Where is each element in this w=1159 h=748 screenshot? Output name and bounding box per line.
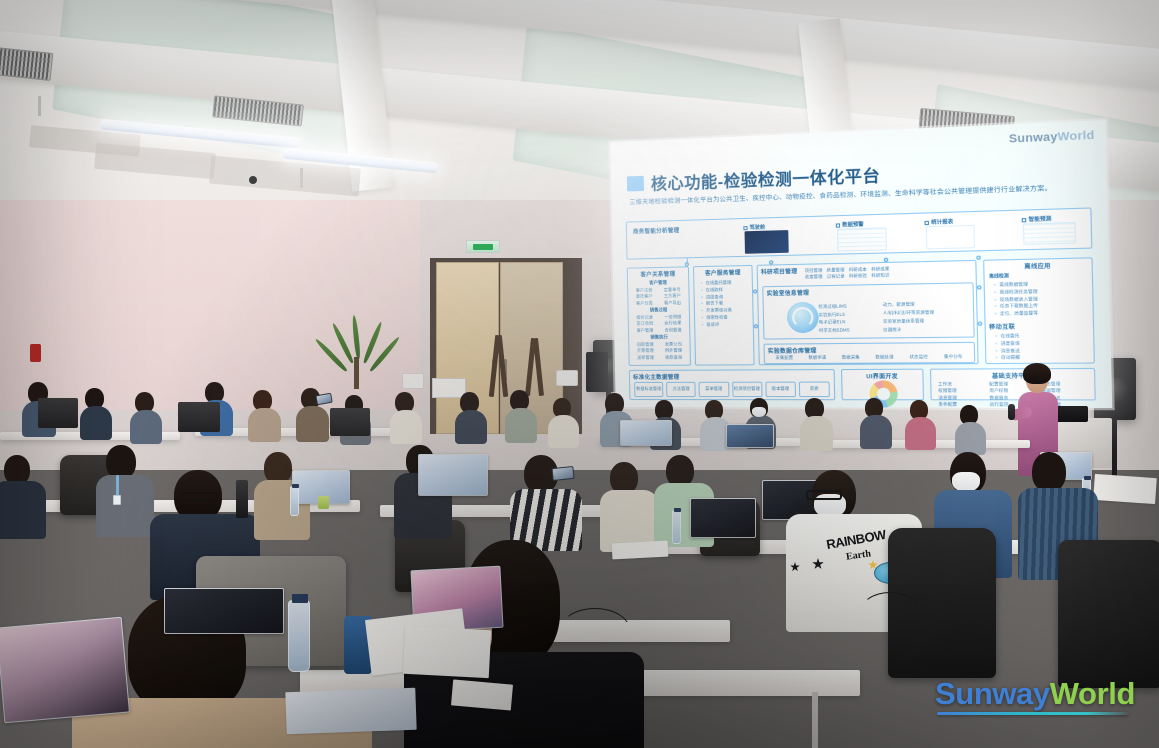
ceiling-hanger: [38, 96, 41, 116]
master-data-box: 标准化主数据管理 数据标准管理 方法管理 菜单管理 检测项目管理 版本管理 资质: [629, 369, 835, 400]
laptop-screen: [0, 618, 129, 722]
torso: [905, 417, 936, 450]
checkbox-icon: [836, 223, 840, 227]
potted-plant: [336, 315, 380, 389]
crm-item: 客户分类: [631, 300, 657, 307]
master-data-item: 版本管理: [765, 382, 796, 397]
watermark-part1: Sunway: [935, 676, 1050, 711]
master-data-header: 标准化主数据管理: [630, 370, 834, 382]
torso: [80, 406, 112, 440]
connector-node: [754, 324, 758, 328]
laptop: [690, 498, 756, 538]
master-data-item: 数据标准管理: [634, 382, 663, 397]
project-matrix-item: 科研检验: [849, 273, 867, 280]
dw-item: 数据处理: [869, 354, 901, 361]
torso: [0, 481, 46, 539]
document-thumbnail: [837, 227, 887, 251]
wall-monitor: [586, 352, 608, 392]
air-vent: [0, 47, 53, 81]
torso: [955, 422, 986, 455]
bottle-cap: [674, 508, 681, 512]
slide-brand-part1: Sunway: [1009, 131, 1058, 146]
bottle-cap: [292, 594, 308, 603]
platform-item: 权限管理: [938, 388, 983, 395]
service-items: 在线委托管理 在线取样 进度查询 报告下载 开发票核对表 保密性检查 投诉评: [694, 277, 753, 328]
lims-circle-graphic: [787, 302, 819, 333]
lab-resource-list: 动力、能源管理 人/机/料/法/环等资源管理 实验室质量体系管理 仪器统计: [883, 300, 935, 334]
water-bottle: [672, 510, 681, 544]
project-matrix-item: 过程记录: [827, 274, 845, 281]
smartphone: [551, 466, 574, 481]
mobile-item: 自动提醒: [995, 354, 1093, 362]
dashboard-thumbnail: [745, 230, 789, 254]
monitor: [178, 402, 220, 432]
lab-info-header: 实验室信息管理: [763, 283, 972, 298]
torso: [860, 415, 892, 449]
customer-service-box: 客户服务管理 在线委托管理 在线取样 进度查询 报告下载 开发票核对表 保密性检…: [693, 265, 755, 366]
head: [1032, 452, 1066, 492]
paper-document: [403, 626, 491, 678]
torso: [800, 416, 833, 451]
mobile-items: 在线委托 进度查询 消息推送 自动提醒: [986, 331, 1094, 362]
project-header: 科研项目管理: [758, 265, 801, 277]
drink-cup: [318, 496, 329, 509]
ui-development-box: UI界面开发: [841, 369, 924, 401]
torso: [130, 410, 162, 444]
eyeglasses: [806, 490, 842, 500]
laptop-screen: [419, 455, 487, 495]
laptop: [164, 588, 284, 634]
head: [106, 445, 136, 479]
torso: [548, 415, 579, 448]
project-matrix: 项目管理 质量管理 科研成本 科研成果 进度管理 过程记录 科研检验 科研知识: [805, 263, 890, 281]
master-data-item: 资质: [799, 382, 830, 398]
offline-application-box: 离线应用 离线检测 离线数据管理 离线检测任务管理 现场数据录入管理 任务下载数…: [983, 257, 1095, 364]
laptop-screen: [727, 425, 773, 447]
monitor: [330, 408, 370, 436]
platform-item: 条件配置: [938, 401, 983, 408]
chart-thumbnail: [926, 225, 975, 250]
master-data-boxes: 数据标准管理 方法管理 菜单管理 检测项目管理 版本管理 资质: [630, 382, 834, 398]
paper-document: [612, 541, 669, 560]
paper-document: [451, 679, 513, 710]
offline-item: 定位、质量监督等: [994, 310, 1092, 319]
master-data-item: 菜单管理: [699, 382, 729, 397]
conference-room-photo: SunwayWorld 核心功能-检验检测一体化平台 三维天地检验检测一体化平台…: [0, 0, 1159, 748]
data-warehouse-items: 采集配置 数据申请 数据采集 数据处理 状态监控 集中分布: [765, 354, 974, 362]
platform-column: 工作流 权限管理 消息管理 条件配置: [938, 381, 983, 408]
office-chair: [1058, 540, 1159, 688]
fire-alarm-icon: [30, 344, 41, 362]
core-systems-list: 检测过程LIMS 实验执行ELS 电子记录ELN 科学文档SDMS: [818, 302, 850, 334]
slide-brand-logo: SunwayWorld: [1009, 129, 1095, 146]
crm-box: 客户关系管理 客户管理 客户注册 定量单号 委托客户 三方客户 客户分类 客户导…: [627, 266, 691, 366]
master-data-item: 方法管理: [666, 382, 696, 397]
bi-analysis-label: 商务智能分析管理: [630, 224, 683, 237]
crm-item: 合同管理: [660, 327, 686, 334]
exit-sign-glyph: [473, 244, 493, 250]
project-matrix-item: 进度管理: [805, 274, 823, 281]
laptop: [726, 424, 774, 448]
paper-document: [1093, 474, 1157, 504]
laptop: [620, 420, 672, 446]
bottle-cap: [292, 484, 299, 488]
connector-node: [753, 289, 757, 293]
torso: [296, 406, 329, 442]
dw-item: 状态监控: [903, 354, 935, 361]
laptop-screen: [621, 421, 671, 445]
torso: [455, 410, 487, 444]
water-bottle: [288, 600, 310, 672]
thermos-tumbler: [236, 480, 248, 518]
speaker-stand: [1112, 420, 1117, 480]
dw-item: 采集配置: [769, 355, 800, 362]
face-mask: [952, 472, 980, 492]
master-data-item: 检测项目管理: [732, 382, 763, 397]
cable: [560, 608, 630, 630]
dw-item: 数据申请: [802, 355, 833, 362]
crm-group-items: 回款管理 发票公司 开票管理 例外管理 送样管理 收款查询: [629, 341, 690, 361]
desk-leg: [812, 692, 818, 748]
face-mask: [752, 407, 766, 417]
brochure: [285, 688, 416, 735]
core-system-item: 科学文档SDMS: [819, 326, 850, 334]
crm-item: 送样管理: [633, 354, 659, 361]
bi-analysis-box: 商务智能分析管理 驾驶舱 数据预警 统计报表: [626, 207, 1093, 259]
eyeglasses: [180, 492, 218, 501]
handheld-microphone: [1008, 404, 1015, 420]
crm-group-items: 客户注册 定量单号 委托客户 三方客户 客户分类 客户导出: [628, 287, 689, 307]
torso: [248, 408, 281, 442]
presenter-hair: [1023, 363, 1051, 384]
data-warehouse-box: 实验数据仓库管理 采集配置 数据申请 数据采集 数据处理 状态监控 集中分布: [763, 342, 975, 364]
connector-node: [976, 256, 981, 260]
laptop-screen: [691, 499, 755, 537]
sprinkler-head: [249, 176, 257, 184]
torso: [390, 410, 422, 444]
plant-leaf: [351, 315, 361, 359]
core-system-item: 检测过程LIMS: [818, 302, 849, 310]
torso: [96, 475, 154, 537]
research-project-box: 科研项目管理 项目管理 质量管理 科研成本 科研成果 进度管理 过程记录 科研检…: [757, 260, 979, 365]
offline-items: 离线数据管理 离线检测任务管理 现场数据录入管理 任务下载数据上传 定位、质量监…: [985, 279, 1093, 318]
checkbox-icon: [924, 220, 928, 224]
wall-outlet: [556, 370, 578, 386]
report-thumbnail: [1023, 222, 1076, 245]
crm-item: 客户导出: [659, 299, 685, 306]
monitor: [38, 398, 78, 428]
connector-node: [978, 322, 983, 326]
title-accent-tab: [627, 175, 644, 191]
checkbox-icon: [743, 226, 747, 230]
laptop: [418, 454, 488, 496]
lanyard: [116, 475, 119, 497]
core-system-item: 电子记录ELN: [819, 318, 850, 326]
bottle-cap: [1084, 476, 1091, 480]
badge: [113, 495, 121, 505]
lab-resource-item: 人/机/料/法/环等资源管理: [883, 308, 934, 317]
torso: [505, 408, 537, 443]
ceiling-hanger: [300, 168, 303, 188]
plant-stem: [354, 357, 359, 389]
emergency-exit-sign: [466, 240, 500, 253]
water-bottle: [290, 486, 299, 516]
watermark-underline: [937, 712, 1129, 715]
crm-item: 客户管理: [632, 327, 658, 334]
service-item: 投诉评: [701, 321, 753, 329]
laptop-screen: [165, 589, 283, 633]
lab-info-box: 实验室信息管理 检测过程LIMS 实验执行ELS 电子记录ELN 科学文档SDM…: [762, 282, 974, 339]
mobile-header: 移动互联: [985, 317, 1093, 332]
checkbox-icon: [1022, 217, 1027, 221]
connector-node: [977, 285, 982, 289]
crm-item: 收款查询: [660, 354, 686, 361]
project-matrix-item: 科研知识: [871, 273, 889, 280]
crm-group-items: 报价记录 一览明细 签订合同 执行结果 客户管理 合同管理: [629, 314, 690, 334]
laptop: [0, 617, 130, 724]
lab-resource-item: 仪器统计: [883, 325, 934, 334]
dw-item: 数据采集: [835, 354, 867, 361]
slide-brand-part2: World: [1057, 129, 1094, 144]
wall-outlet: [402, 373, 424, 389]
dw-item: 集中分布: [937, 354, 970, 361]
